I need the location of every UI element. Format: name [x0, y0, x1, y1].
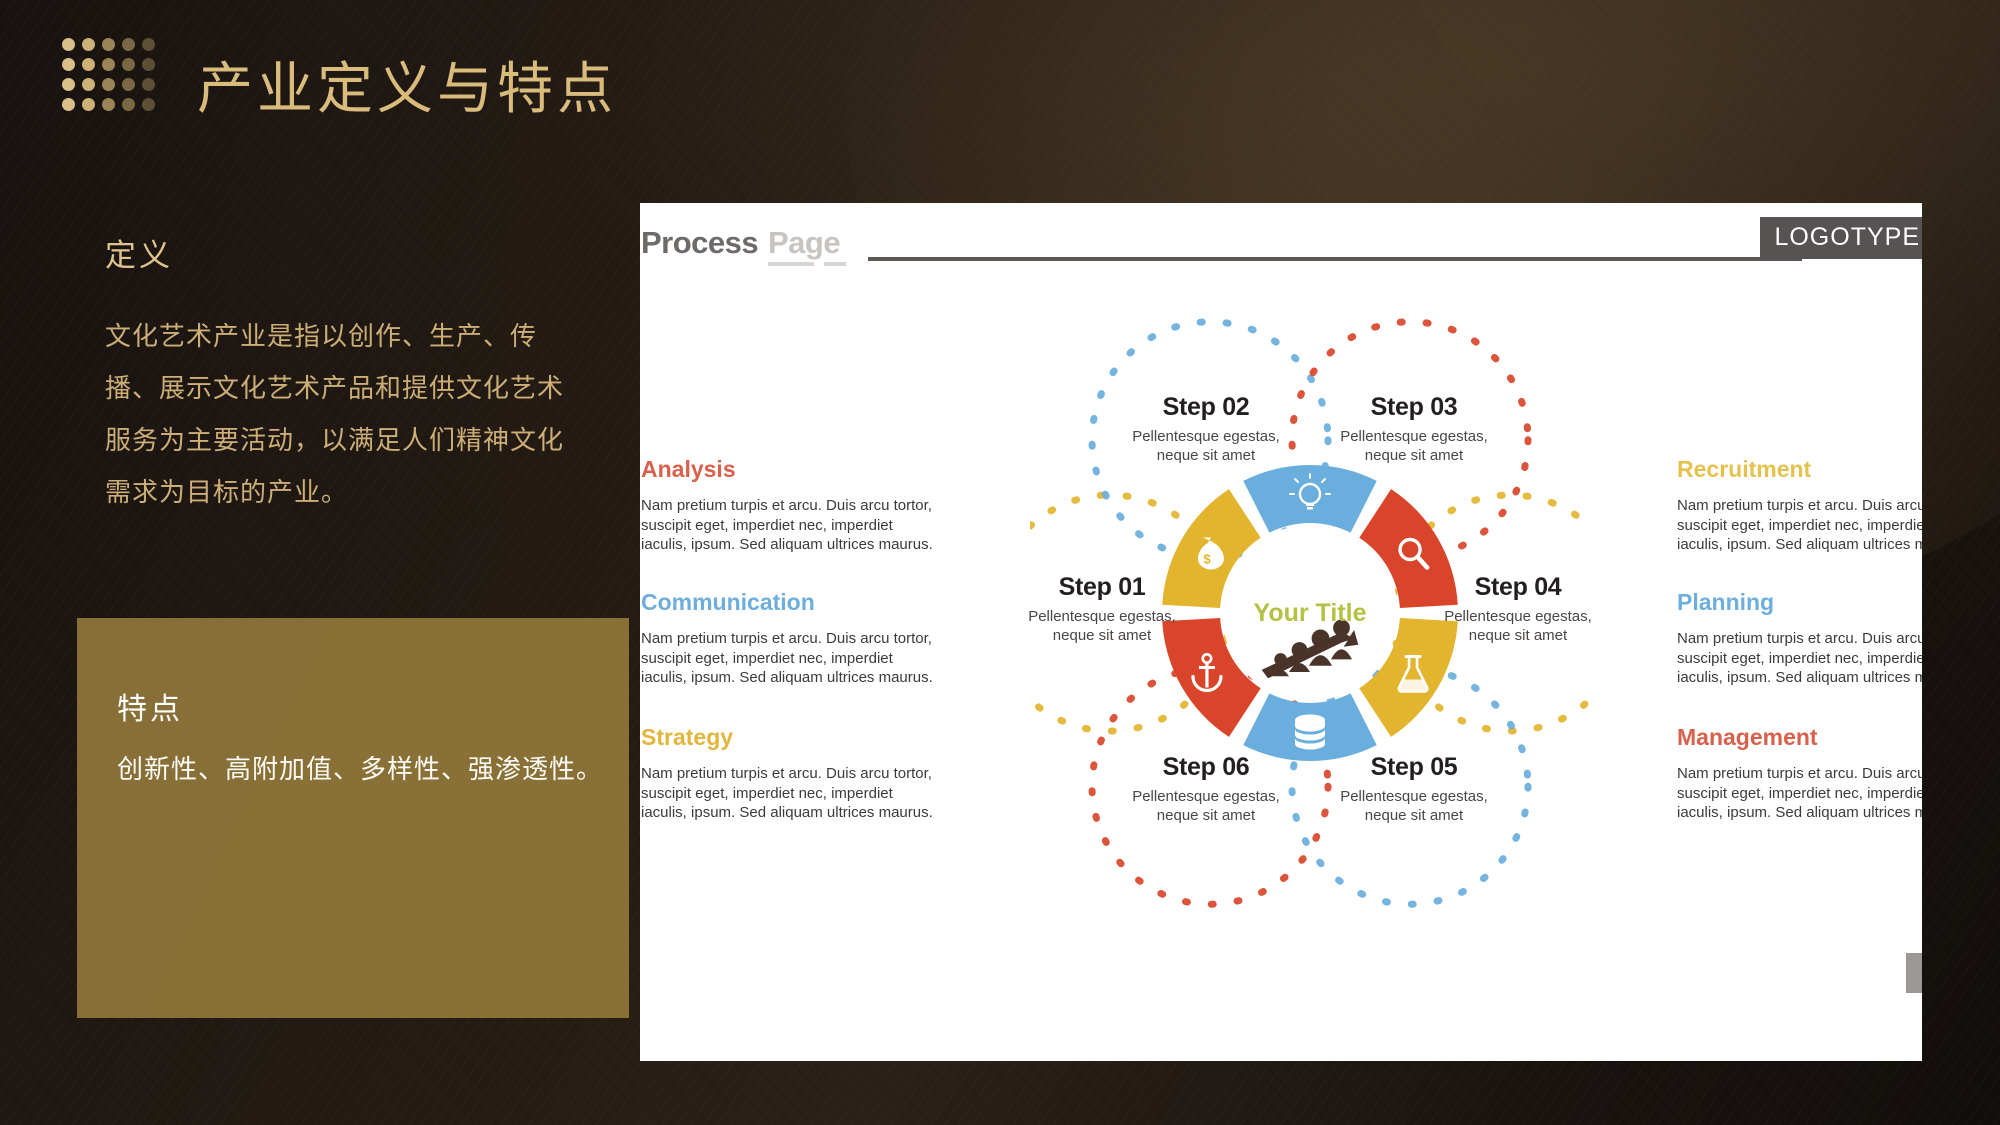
- column-heading: Communication: [641, 589, 941, 616]
- grid-dot: [122, 38, 135, 51]
- grid-dot: [142, 38, 155, 51]
- wheel-step-desc: Pellentesque egestas, neque sit amet: [1007, 607, 1197, 645]
- grid-dot: [62, 78, 75, 91]
- definition-block: 定义 文化艺术产业是指以创作、生产、传播、展示文化艺术产品和提供文化艺术服务为主…: [105, 230, 575, 519]
- grid-dot: [142, 78, 155, 91]
- column-body: Nam pretium turpis et arcu. Duis arcu to…: [1677, 764, 1922, 823]
- right-column-block-planning: Planning Nam pretium turpis et arcu. Dui…: [1677, 589, 1922, 688]
- wheel-step-desc: Pellentesque egestas, neque sit amet: [1423, 607, 1613, 645]
- wheel-step-title: Step 06: [1111, 753, 1301, 782]
- column-heading: Strategy: [641, 724, 941, 751]
- wheel-step-label[interactable]: Step 06Pellentesque egestas, neque sit a…: [1111, 753, 1301, 825]
- left-column-block-strategy: Strategy Nam pretium turpis et arcu. Dui…: [641, 724, 941, 823]
- left-column-block-communication: Communication Nam pretium turpis et arcu…: [641, 589, 941, 688]
- wheel-step-desc: Pellentesque egestas, neque sit amet: [1319, 787, 1509, 825]
- grid-dot: [142, 98, 155, 111]
- column-heading: Analysis: [641, 456, 941, 483]
- definition-body: 文化艺术产业是指以创作、生产、传播、展示文化艺术产品和提供文化艺术服务为主要活动…: [105, 311, 575, 519]
- wheel-step-title: Step 05: [1319, 753, 1509, 782]
- wheel-step-title: Step 04: [1423, 573, 1613, 602]
- left-column-block-analysis: Analysis Nam pretium turpis et arcu. Dui…: [641, 456, 941, 555]
- grid-dot: [82, 78, 95, 91]
- header-rule: [868, 257, 1802, 261]
- grid-dot: [122, 58, 135, 71]
- grid-dot: [62, 38, 75, 51]
- wheel-step-title: Step 01: [1007, 573, 1197, 602]
- grid-dot: [82, 98, 95, 111]
- wheel-step-label[interactable]: Step 01Pellentesque egestas, neque sit a…: [1007, 573, 1197, 645]
- column-body: Nam pretium turpis et arcu. Duis arcu to…: [641, 629, 941, 688]
- wheel-step-title: Step 02: [1111, 393, 1301, 422]
- grid-dot: [62, 98, 75, 111]
- column-body: Nam pretium turpis et arcu. Duis arcu to…: [1677, 629, 1922, 688]
- feature-body: 创新性、高附加值、多样性、强渗透性。: [117, 751, 637, 789]
- grid-dot: [102, 78, 115, 91]
- grid-dot: [122, 98, 135, 111]
- wheel-step-desc: Pellentesque egestas, neque sit amet: [1111, 787, 1301, 825]
- grid-dot: [62, 58, 75, 71]
- column-heading: Recruitment: [1677, 456, 1922, 483]
- grid-dot: [142, 58, 155, 71]
- dot-grid-decoration: [62, 38, 158, 114]
- corner-chip: [1906, 953, 1922, 993]
- embedded-slide-header: Process Page LOGOTYPE: [640, 203, 1922, 293]
- page-title: 产业定义与特点: [197, 44, 617, 125]
- grid-dot: [102, 98, 115, 111]
- wheel-center-title: Your Title: [1254, 599, 1367, 628]
- grid-dot: [82, 58, 95, 71]
- feature-heading: 特点: [117, 684, 183, 728]
- grid-dot: [122, 78, 135, 91]
- wheel-step-label[interactable]: Step 03Pellentesque egestas, neque sit a…: [1319, 393, 1509, 465]
- logotype-badge: LOGOTYPE: [1760, 217, 1922, 259]
- wheel-step-desc: Pellentesque egestas, neque sit amet: [1319, 427, 1509, 465]
- column-heading: Management: [1677, 724, 1922, 751]
- embedded-slide-panel: Process Page LOGOTYPE Analysis Nam preti…: [640, 203, 1922, 1061]
- wheel-step-label[interactable]: Step 04Pellentesque egestas, neque sit a…: [1423, 573, 1613, 645]
- grid-dot: [102, 58, 115, 71]
- wheel-step-title: Step 03: [1319, 393, 1509, 422]
- wheel-step-label[interactable]: Step 02Pellentesque egestas, neque sit a…: [1111, 393, 1301, 465]
- embedded-title-light: Page: [768, 225, 840, 261]
- title-underline-right: [824, 262, 846, 266]
- process-wheel-diagram: $ Your Title Step 01Pellentesque egestas…: [1030, 303, 1590, 923]
- column-body: Nam pretium turpis et arcu. Duis arcu to…: [641, 496, 941, 555]
- wheel-step-label[interactable]: Step 05Pellentesque egestas, neque sit a…: [1319, 753, 1509, 825]
- feature-box: 特点 创新性、高附加值、多样性、强渗透性。: [77, 618, 629, 1018]
- column-body: Nam pretium turpis et arcu. Duis arcu to…: [641, 764, 941, 823]
- right-column-block-recruitment: Recruitment Nam pretium turpis et arcu. …: [1677, 456, 1922, 555]
- grid-dot: [102, 38, 115, 51]
- wheel-step-desc: Pellentesque egestas, neque sit amet: [1111, 427, 1301, 465]
- definition-heading: 定义: [105, 230, 575, 275]
- title-underline-left: [768, 262, 814, 266]
- column-heading: Planning: [1677, 589, 1922, 616]
- right-column-block-management: Management Nam pretium turpis et arcu. D…: [1677, 724, 1922, 823]
- grid-dot: [82, 38, 95, 51]
- column-body: Nam pretium turpis et arcu. Duis arcu to…: [1677, 496, 1922, 555]
- embedded-title-strong: Process: [641, 225, 758, 261]
- svg-text:$: $: [1203, 552, 1211, 567]
